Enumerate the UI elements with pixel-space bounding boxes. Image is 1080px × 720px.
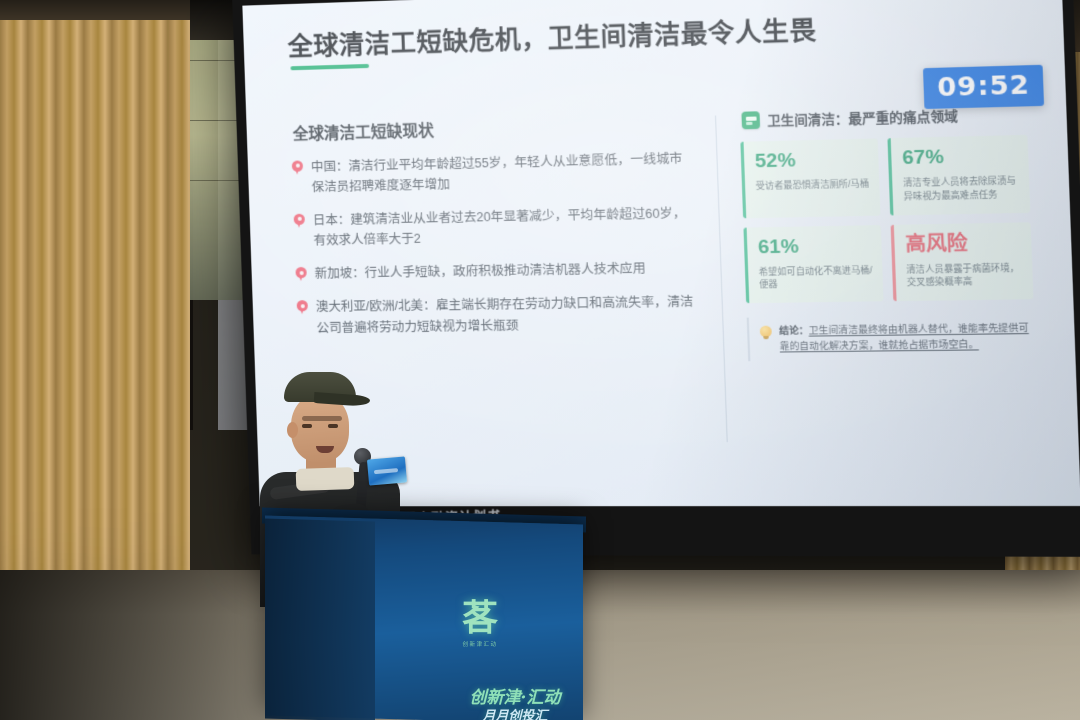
podium-slogan-line1: 创新津·汇动 [470,688,561,708]
curtain-rail-left [0,0,190,20]
speaker-collar [296,467,355,491]
list-item: 澳大利亚/欧洲/北美：雇主端长期存在劳动力缺口和高流失率，清洁公司普遍将劳动力短… [296,292,699,338]
conclusion-body: 卫生间清洁最终将由机器人替代，谁能率先提供可靠的自动化解决方案，谁就抢占据市场空… [780,323,1029,352]
pin-icon [297,301,309,316]
conference-room-scene: 全球清洁工短缺危机，卫生间清洁最令人生畏 09:52 全球清洁工短缺现状 中国：… [0,0,1080,720]
right-column-heading: 卫生间清洁：最严重的痛点领域 [767,105,958,130]
stat-value: 61% [758,235,873,259]
podium-shadow-side [265,518,375,720]
conclusion-box: 结论：卫生间清洁最终将由机器人替代，谁能率先提供可靠的自动化解决方案，谁就抢占据… [747,314,1036,361]
stat-value: 67% [902,146,1019,171]
countdown-timer-badge: 09:52 [923,65,1044,109]
speaker-eye-right [328,424,338,428]
stat-card: 67% 清洁专业人员将去除尿渍与异味视为最高难点任务 [887,135,1030,215]
bullet-text: 新加坡：行业人手短缺，政府积极推动清洁机器人技术应用 [314,259,646,285]
right-column-header: 卫生间清洁：最严重的痛点领域 [741,103,1027,130]
stat-card: 61% 希望如可自动化不离进马桶/便器 [743,225,883,304]
speaker-ear [287,422,298,438]
right-column: 卫生间清洁：最严重的痛点领域 52% 受访者最恐惧清洁厕所/马桶 67% 清洁专… [739,103,1040,473]
podium-slogan: 创新津·汇动 月月创投汇 [420,688,610,720]
stat-card: 52% 受访者最恐惧清洁厕所/马桶 [740,138,880,218]
conclusion-text: 结论：卫生间清洁最终将由机器人替代，谁能率先提供可靠的自动化解决方案，谁就抢占据… [779,321,1031,355]
bullet-text: 澳大利亚/欧洲/北美：雇主端长期存在劳动力缺口和高流失率，清洁公司普遍将劳动力短… [316,292,700,338]
list-item: 日本：建筑清洁业从业者过去20年显著减少，平均年龄超过60岁，有效求人倍率大于2 [293,203,696,252]
bulb-icon [760,326,772,340]
clipboard-icon [741,111,760,129]
list-item: 中国：清洁行业平均年龄超过55岁，年轻人从业意愿低，一线城市保洁员招聘难度逐年增… [292,148,695,198]
bullet-text: 日本：建筑清洁业从业者过去20年显著减少，平均年龄超过60岁，有效求人倍率大于2 [313,203,697,251]
slide-title: 全球清洁工短缺危机，卫生间清洁最令人生畏 [287,6,958,67]
podium-logo-mark: 茖 [443,600,517,636]
risk-card: 高风险 清洁人员暴露于病菌环境，交叉感染概率高 [891,222,1034,302]
podium-logo: 茖 创新津汇动 [443,600,517,648]
bullet-text: 中国：清洁行业平均年龄超过55岁，年轻人从业意愿低，一线城市保洁员招聘难度逐年增… [311,148,695,198]
pin-icon [294,214,306,229]
risk-value: 高风险 [905,233,1022,257]
broadcast-flag-icon [367,456,407,485]
stat-description: 希望如可自动化不离进马桶/便器 [759,263,874,292]
podium-slogan-line2: 月月创投汇 [420,709,610,720]
left-column-heading: 全球清洁工短缺现状 [292,112,692,145]
stat-value: 52% [755,149,870,173]
stat-description: 受访者最恐惧清洁厕所/马桶 [756,177,870,193]
speaker-brow [302,416,342,421]
list-item: 新加坡：行业人手短缺，政府积极推动清洁机器人技术应用 [295,258,697,285]
conclusion-label: 结论： [779,326,809,337]
pin-icon [295,267,307,282]
podium-logo-subtitle: 创新津汇动 [443,640,517,648]
pin-icon [292,160,304,175]
column-divider [715,115,728,442]
stat-card-grid: 52% 受访者最恐惧清洁厕所/马桶 67% 清洁专业人员将去除尿渍与异味视为最高… [740,135,1033,304]
speaker-eye-left [302,424,312,428]
risk-description: 清洁人员暴露于病菌环境，交叉感染概率高 [906,261,1023,290]
stat-description: 清洁专业人员将去除尿渍与异味视为最高难点任务 [903,174,1020,203]
